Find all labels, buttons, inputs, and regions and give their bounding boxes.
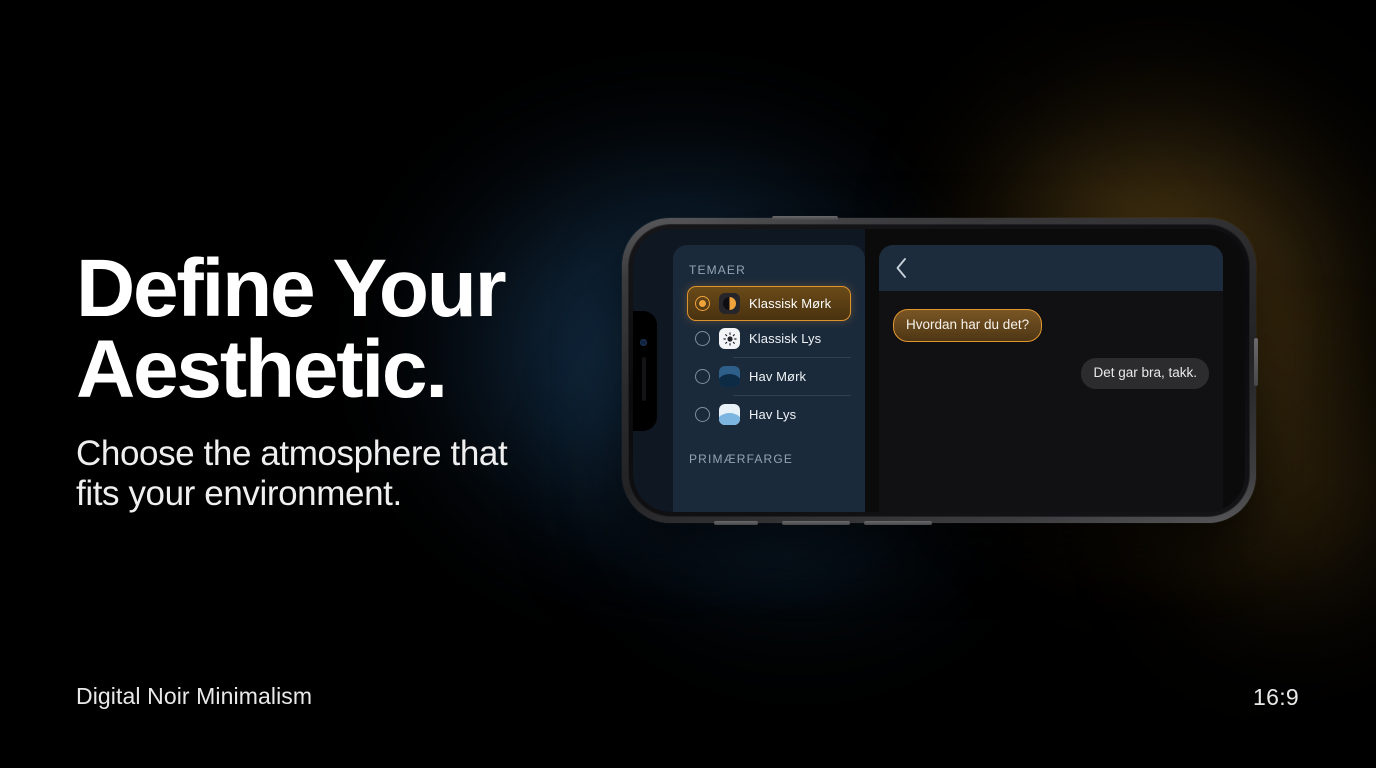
- phone-screen: TEMAER Klassisk Mørk: [633, 229, 1245, 512]
- ocean-light-swatch-icon: [719, 404, 740, 425]
- chat-message-list: Hvordan har du det? Det gar bra, takk.: [879, 291, 1223, 512]
- phone-volume-up-button[interactable]: [782, 521, 850, 525]
- phone-notch: [633, 311, 657, 431]
- chat-bubble-incoming: Hvordan har du det?: [893, 309, 1042, 342]
- list-divider: [733, 357, 851, 358]
- theme-option-klassisk-lys[interactable]: Klassisk Lys: [687, 321, 851, 356]
- list-divider: [733, 395, 851, 396]
- chat-card: Hvordan har du det? Det gar bra, takk.: [879, 245, 1223, 512]
- themes-section-label: TEMAER: [689, 263, 851, 277]
- radio-button-icon[interactable]: [695, 331, 710, 346]
- theme-option-hav-mork[interactable]: Hav Mørk: [687, 359, 851, 394]
- earpiece-speaker-icon: [642, 357, 646, 401]
- phone-power-button[interactable]: [772, 216, 838, 220]
- theme-option-klassisk-mork[interactable]: Klassisk Mørk: [687, 286, 851, 321]
- primary-color-section-label: PRIMÆRFARGE: [689, 452, 851, 466]
- footer-caption: Digital Noir Minimalism: [76, 683, 312, 710]
- chat-bubble-outgoing: Det gar bra, takk.: [1081, 358, 1209, 389]
- hero-headline: Define Your Aesthetic.: [76, 248, 636, 410]
- settings-pane: TEMAER Klassisk Mørk: [633, 229, 865, 512]
- phone-mockup: TEMAER Klassisk Mørk: [622, 218, 1256, 523]
- poster-canvas: Define Your Aesthetic. Choose the atmosp…: [0, 0, 1376, 768]
- radio-button-icon[interactable]: [695, 407, 710, 422]
- phone-mute-switch[interactable]: [714, 521, 758, 525]
- theme-option-label: Klassisk Mørk: [749, 296, 831, 311]
- sun-icon: [723, 332, 737, 346]
- phone-volume-down-button[interactable]: [864, 521, 932, 525]
- themes-card: TEMAER Klassisk Mørk: [673, 245, 865, 512]
- chat-pane: Hvordan har du det? Det gar bra, takk.: [865, 229, 1245, 512]
- footer-aspect-ratio: 16:9: [1253, 684, 1299, 711]
- theme-option-label: Hav Lys: [749, 407, 796, 422]
- radio-button-icon[interactable]: [695, 369, 710, 384]
- front-camera-icon: [640, 339, 647, 346]
- classic-light-swatch-icon: [719, 328, 740, 349]
- phone-side-button[interactable]: [1254, 338, 1258, 386]
- hero-copy-block: Define Your Aesthetic. Choose the atmosp…: [76, 248, 636, 513]
- radio-dot-icon: [699, 300, 706, 307]
- theme-option-label: Hav Mørk: [749, 369, 806, 384]
- classic-dark-swatch-icon: [719, 293, 740, 314]
- radio-button-selected-icon[interactable]: [695, 296, 710, 311]
- hero-subheadline: Choose the atmosphere that fits your env…: [76, 434, 636, 512]
- chat-header: [879, 245, 1223, 291]
- phone-bezel: TEMAER Klassisk Mørk: [628, 224, 1250, 517]
- theme-option-label: Klassisk Lys: [749, 331, 821, 346]
- ocean-dark-swatch-icon: [719, 366, 740, 387]
- theme-option-hav-lys[interactable]: Hav Lys: [687, 397, 851, 432]
- chevron-left-icon[interactable]: [895, 257, 908, 279]
